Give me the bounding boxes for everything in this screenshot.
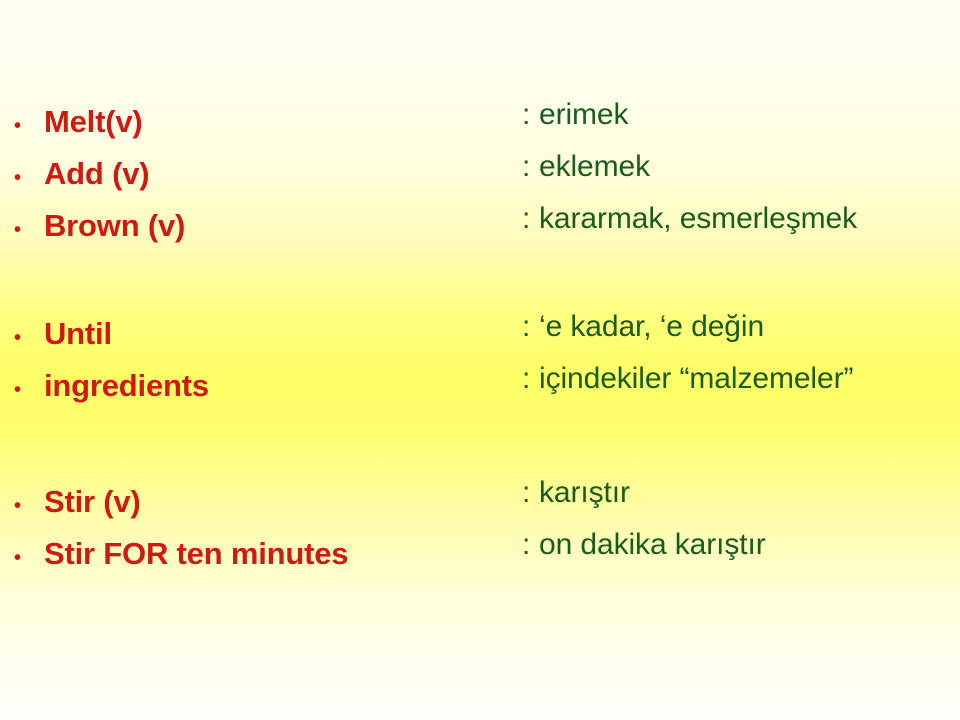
bullet-dot-icon [14,168,44,188]
list-item: Brown (v) [0,210,500,262]
english-group-connectors: Until ingredients [0,318,500,422]
turkish-translation: erimek [539,100,628,130]
list-item: Stir (v) [0,486,500,538]
english-group-stir: Stir (v) Stir FOR ten minutes [0,486,500,590]
turkish-group-stir: : karıştır : on dakika karıştır [500,478,960,582]
colon-separator: : [522,152,539,182]
list-item: Stir FOR ten minutes [0,538,500,590]
english-term: Melt(v) [44,106,143,137]
turkish-translation: kararmak, esmerleşmek [539,204,857,234]
list-item: : eklemek [500,152,960,204]
list-item: Melt(v) [0,106,500,158]
english-term: Stir FOR ten minutes [44,538,348,569]
english-term: Stir (v) [44,486,141,517]
bullet-dot-icon [14,116,44,136]
english-term: ingredients [44,370,209,401]
turkish-group-verbs: : erimek : eklemek : kararmak, esmerleşm… [500,100,960,256]
english-term: Add (v) [44,158,149,189]
bullet-dot-icon [14,496,44,516]
turkish-translation: içindekiler “malzemeler” [539,364,853,394]
colon-separator: : [522,204,539,234]
turkish-translation: ‘e kadar, ‘e değin [539,312,764,342]
list-item: : karıştır [500,478,960,530]
turkish-translation: on dakika karıştır [539,530,766,560]
colon-separator: : [522,530,539,560]
colon-separator: : [522,312,539,342]
list-item: : kararmak, esmerleşmek [500,204,960,256]
english-term: Until [44,318,112,349]
list-item: : on dakika karıştır [500,530,960,582]
turkish-translation: eklemek [539,152,650,182]
list-item: : içindekiler “malzemeler” [500,364,960,416]
colon-separator: : [522,478,539,508]
turkish-translation: karıştır [539,478,630,508]
list-item: : ‘e kadar, ‘e değin [500,312,960,364]
colon-separator: : [522,364,539,394]
english-group-verbs: Melt(v) Add (v) Brown (v) [0,106,500,262]
vocabulary-slide: Melt(v) Add (v) Brown (v) Until ingredie… [0,0,960,720]
list-item: ingredients [0,370,500,422]
list-item: Add (v) [0,158,500,210]
bullet-dot-icon [14,548,44,568]
bullet-dot-icon [14,328,44,348]
turkish-group-connectors: : ‘e kadar, ‘e değin : içindekiler “malz… [500,312,960,416]
list-item: Until [0,318,500,370]
bullet-dot-icon [14,220,44,240]
english-term: Brown (v) [44,210,185,241]
list-item: : erimek [500,100,960,152]
bullet-dot-icon [14,380,44,400]
colon-separator: : [522,100,539,130]
